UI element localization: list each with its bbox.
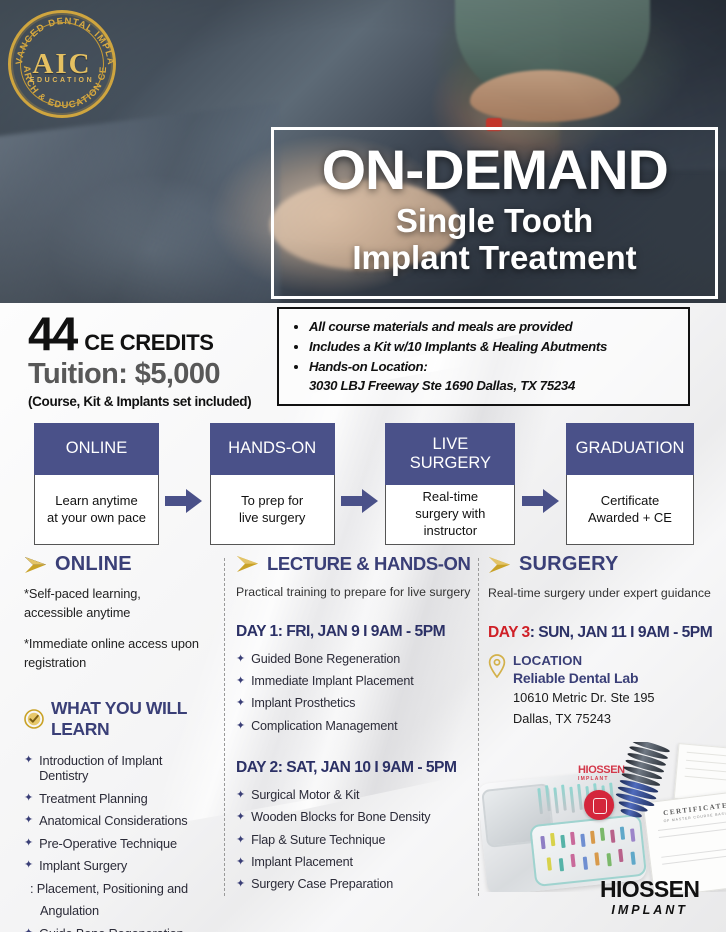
flow-step-desc: Learn anytimeat your own pace: [34, 475, 159, 545]
list-item-label: Surgical Motor & Kit: [251, 788, 359, 803]
flow-arrow-1: [159, 423, 210, 545]
day3-label: DAY 3: [488, 624, 530, 641]
list-item: Angulation: [24, 900, 214, 923]
list-item-label: Treatment Planning: [39, 791, 148, 806]
day1-topic-list: ✦Guided Bone Regeneration ✦Immediate Imp…: [236, 648, 476, 737]
flow-step-desc: CertificateAwarded + CE: [566, 475, 694, 545]
hiossen-sub: IMPLANT: [600, 903, 699, 917]
title-implant-treatment: Implant Treatment: [352, 240, 636, 277]
chevron-right-icon: [488, 556, 512, 574]
column-online: ONLINE *Self-paced learning,accessible a…: [24, 553, 214, 932]
list-item: Includes a Kit w/10 Implants & Healing A…: [309, 337, 678, 357]
what-you-will-learn-list: ✦Introduction of Implant Dentistry ✦Trea…: [24, 749, 214, 932]
diamond-bullet-icon: ✦: [236, 674, 245, 689]
section-title: LECTURE & HANDS-ON: [267, 553, 471, 575]
ce-credits-line: 44 CE CREDITS: [28, 310, 268, 357]
chevron-right-icon: [24, 556, 48, 574]
seal-education-text: EDUCATION: [11, 77, 113, 84]
column-surgery: SURGERY Real-time surgery under expert g…: [488, 553, 720, 728]
flow-step-title: ONLINE: [34, 423, 159, 475]
hands-on-address: 3030 LBJ Freeway Ste 1690 Dallas, TX 752…: [309, 378, 678, 393]
day1-label: DAY 1:: [236, 623, 282, 640]
location-block: LOCATION Reliable Dental Lab 10610 Metri…: [488, 653, 720, 728]
day3-heading: DAY 3: SUN, JAN 11 I 9AM - 5PM: [488, 624, 720, 642]
chevron-right-icon: [236, 555, 260, 573]
list-item-label: : Placement, Positioning and: [30, 881, 188, 896]
diamond-bullet-icon: ✦: [236, 719, 245, 734]
online-item-1: *Self-paced learning,accessible anytime: [24, 585, 214, 622]
flow-arrow-2: [335, 423, 386, 545]
flow-step-title: HANDS-ON: [210, 423, 335, 475]
section-title: WHAT YOU WILL LEARN: [51, 698, 214, 740]
flow-step-graduation: GRADUATION CertificateAwarded + CE: [566, 423, 694, 545]
diamond-bullet-icon: ✦: [236, 696, 245, 711]
surgery-subtitle: Real-time surgery under expert guidance: [488, 585, 720, 602]
section-heading-surgery: SURGERY: [488, 553, 720, 576]
arrow-right-icon: [522, 488, 560, 514]
process-flow: ONLINE Learn anytimeat your own pace HAN…: [34, 423, 694, 545]
list-item: All course materials and meals are provi…: [309, 317, 678, 337]
location-name: Reliable Dental Lab: [513, 670, 655, 686]
day3-detail: : SUN, JAN 11 I 9AM - 5PM: [530, 624, 712, 641]
check-badge-icon: [24, 709, 44, 729]
diamond-bullet-icon: ✦: [24, 926, 33, 932]
list-item: : Placement, Positioning and: [24, 877, 214, 900]
flow-step-online: ONLINE Learn anytimeat your own pace: [34, 423, 159, 545]
list-item: ✦Guide Bone Regeneration: [24, 922, 214, 932]
diamond-bullet-icon: ✦: [236, 810, 245, 825]
list-item-label: Surgery Case Preparation: [251, 877, 393, 892]
arrow-right-icon: [165, 488, 203, 514]
list-item: Hands-on Location:: [309, 357, 678, 377]
section-heading-what-you-will-learn: WHAT YOU WILL LEARN: [24, 698, 214, 740]
diamond-bullet-icon: ✦: [24, 813, 33, 828]
flow-step-title: GRADUATION: [566, 423, 694, 475]
diamond-bullet-icon: ✦: [236, 855, 245, 870]
online-item-2: *Immediate online access uponregistratio…: [24, 635, 214, 672]
list-item: ✦Complication Management: [236, 715, 476, 737]
hiossen-footer-logo: HIOSSEN IMPLANT: [600, 878, 699, 917]
ce-credits-label: CE CREDITS: [84, 330, 213, 356]
list-item: ✦Flap & Suture Technique: [236, 829, 476, 851]
list-item: ✦Wooden Blocks for Bone Density: [236, 807, 476, 829]
section-heading-online: ONLINE: [24, 553, 214, 576]
list-item-label: Flap & Suture Technique: [251, 833, 385, 848]
flow-step-hands-on: HANDS-ON To prep forlive surgery: [210, 423, 335, 545]
column-lecture-hands-on: LECTURE & HANDS-ON Practical training to…: [236, 553, 476, 896]
list-item: ✦Implant Prosthetics: [236, 693, 476, 715]
list-item: ✦Pre-Operative Technique: [24, 832, 214, 855]
list-item-label: Wooden Blocks for Bone Density: [251, 810, 430, 825]
day1-heading: DAY 1: FRI, JAN 9 I 9AM - 5PM: [236, 623, 476, 641]
diamond-bullet-icon: ✦: [24, 836, 33, 851]
list-item-label: Anatomical Considerations: [39, 813, 187, 828]
course-includes-list: All course materials and meals are provi…: [293, 317, 678, 377]
title-single-tooth: Single Tooth: [396, 203, 593, 240]
section-heading-lecture: LECTURE & HANDS-ON: [236, 553, 476, 575]
list-item-label: Implant Surgery: [39, 858, 127, 873]
day1-detail: FRI, JAN 9 I 9AM - 5PM: [286, 623, 445, 640]
hero-banner: ADVANCED DENTAL IMPLANT RESEARCH & EDUCA…: [0, 0, 726, 303]
map-pin-icon: [488, 654, 506, 678]
diamond-bullet-icon: ✦: [24, 791, 33, 806]
list-item: ✦Implant Surgery: [24, 855, 214, 878]
hiossen-small-logo: HIOSSEN IMPLANT: [578, 764, 625, 782]
list-item: ✦Immediate Implant Placement: [236, 671, 476, 693]
list-item-label: Angulation: [30, 903, 99, 918]
list-item: ✦Introduction of Implant Dentistry: [24, 749, 214, 787]
aic-logo-seal: ADVANCED DENTAL IMPLANT RESEARCH & EDUCA…: [8, 10, 116, 118]
day2-heading: DAY 2: SAT, JAN 10 I 9AM - 5PM: [236, 759, 476, 777]
location-text: LOCATION Reliable Dental Lab 10610 Metri…: [513, 653, 655, 728]
location-street: 10610 Metric Dr. Ste 195: [513, 689, 655, 707]
product-photo: CERTIFICATE OF MASTER COURSE BASIC AIC: [480, 742, 726, 892]
list-item: ✦Treatment Planning: [24, 787, 214, 810]
diamond-bullet-icon: ✦: [236, 877, 245, 892]
list-item-label: Complication Management: [251, 719, 397, 734]
flow-step-desc: Real-timesurgery withinstructor: [385, 485, 515, 545]
flow-step-live-surgery: LIVESURGERY Real-timesurgery withinstruc…: [385, 423, 515, 545]
location-title: LOCATION: [513, 653, 655, 668]
diamond-bullet-icon: ✦: [24, 753, 33, 768]
diamond-bullet-icon: ✦: [236, 652, 245, 667]
tuition-note: (Course, Kit & Implants set included): [28, 394, 268, 409]
lecture-subtitle: Practical training to prepare for live s…: [236, 584, 476, 601]
list-item-label: Guide Bone Regeneration: [39, 926, 184, 932]
section-title: ONLINE: [55, 553, 132, 576]
diamond-bullet-icon: ✦: [24, 858, 33, 873]
list-item-label: Implant Placement: [251, 855, 353, 870]
arrow-right-icon: [341, 488, 379, 514]
location-city: Dallas, TX 75243: [513, 710, 655, 728]
ce-credits-block: 44 CE CREDITS Tuition: $5,000 (Course, K…: [28, 310, 268, 409]
seal-inner-ring: [20, 22, 104, 106]
flow-step-desc: To prep forlive surgery: [210, 475, 335, 545]
list-item-label: Guided Bone Regeneration: [251, 652, 400, 667]
list-item: ✦Guided Bone Regeneration: [236, 648, 476, 670]
list-item-label: Immediate Implant Placement: [251, 674, 414, 689]
flow-arrow-3: [515, 423, 566, 545]
list-item-label: Pre-Operative Technique: [39, 836, 177, 851]
section-title: SURGERY: [519, 553, 619, 576]
ce-credits-number: 44: [28, 310, 76, 357]
flyer-page: ADVANCED DENTAL IMPLANT RESEARCH & EDUCA…: [0, 0, 726, 932]
day2-label: DAY 2:: [236, 759, 282, 776]
day2-detail: SAT, JAN 10 I 9AM - 5PM: [286, 759, 456, 776]
diamond-bullet-icon: ✦: [236, 788, 245, 803]
flow-step-title: LIVESURGERY: [385, 423, 515, 485]
list-item: ✦Surgery Case Preparation: [236, 874, 476, 896]
title-block: ON-DEMAND Single Tooth Implant Treatment: [271, 127, 718, 299]
list-item-label: Implant Prosthetics: [251, 696, 355, 711]
day2-topic-list: ✦Surgical Motor & Kit ✦Wooden Blocks for…: [236, 784, 476, 895]
list-item: ✦Implant Placement: [236, 851, 476, 873]
list-item: ✦Surgical Motor & Kit: [236, 784, 476, 806]
diamond-bullet-icon: ✦: [236, 833, 245, 848]
list-item-label: Introduction of Implant Dentistry: [39, 753, 214, 784]
list-item: ✦Anatomical Considerations: [24, 810, 214, 833]
course-includes-box: All course materials and meals are provi…: [277, 307, 690, 406]
title-on-demand: ON-DEMAND: [321, 143, 667, 196]
hiossen-name: HIOSSEN: [600, 878, 699, 901]
tuition-amount: Tuition: $5,000: [28, 358, 268, 391]
